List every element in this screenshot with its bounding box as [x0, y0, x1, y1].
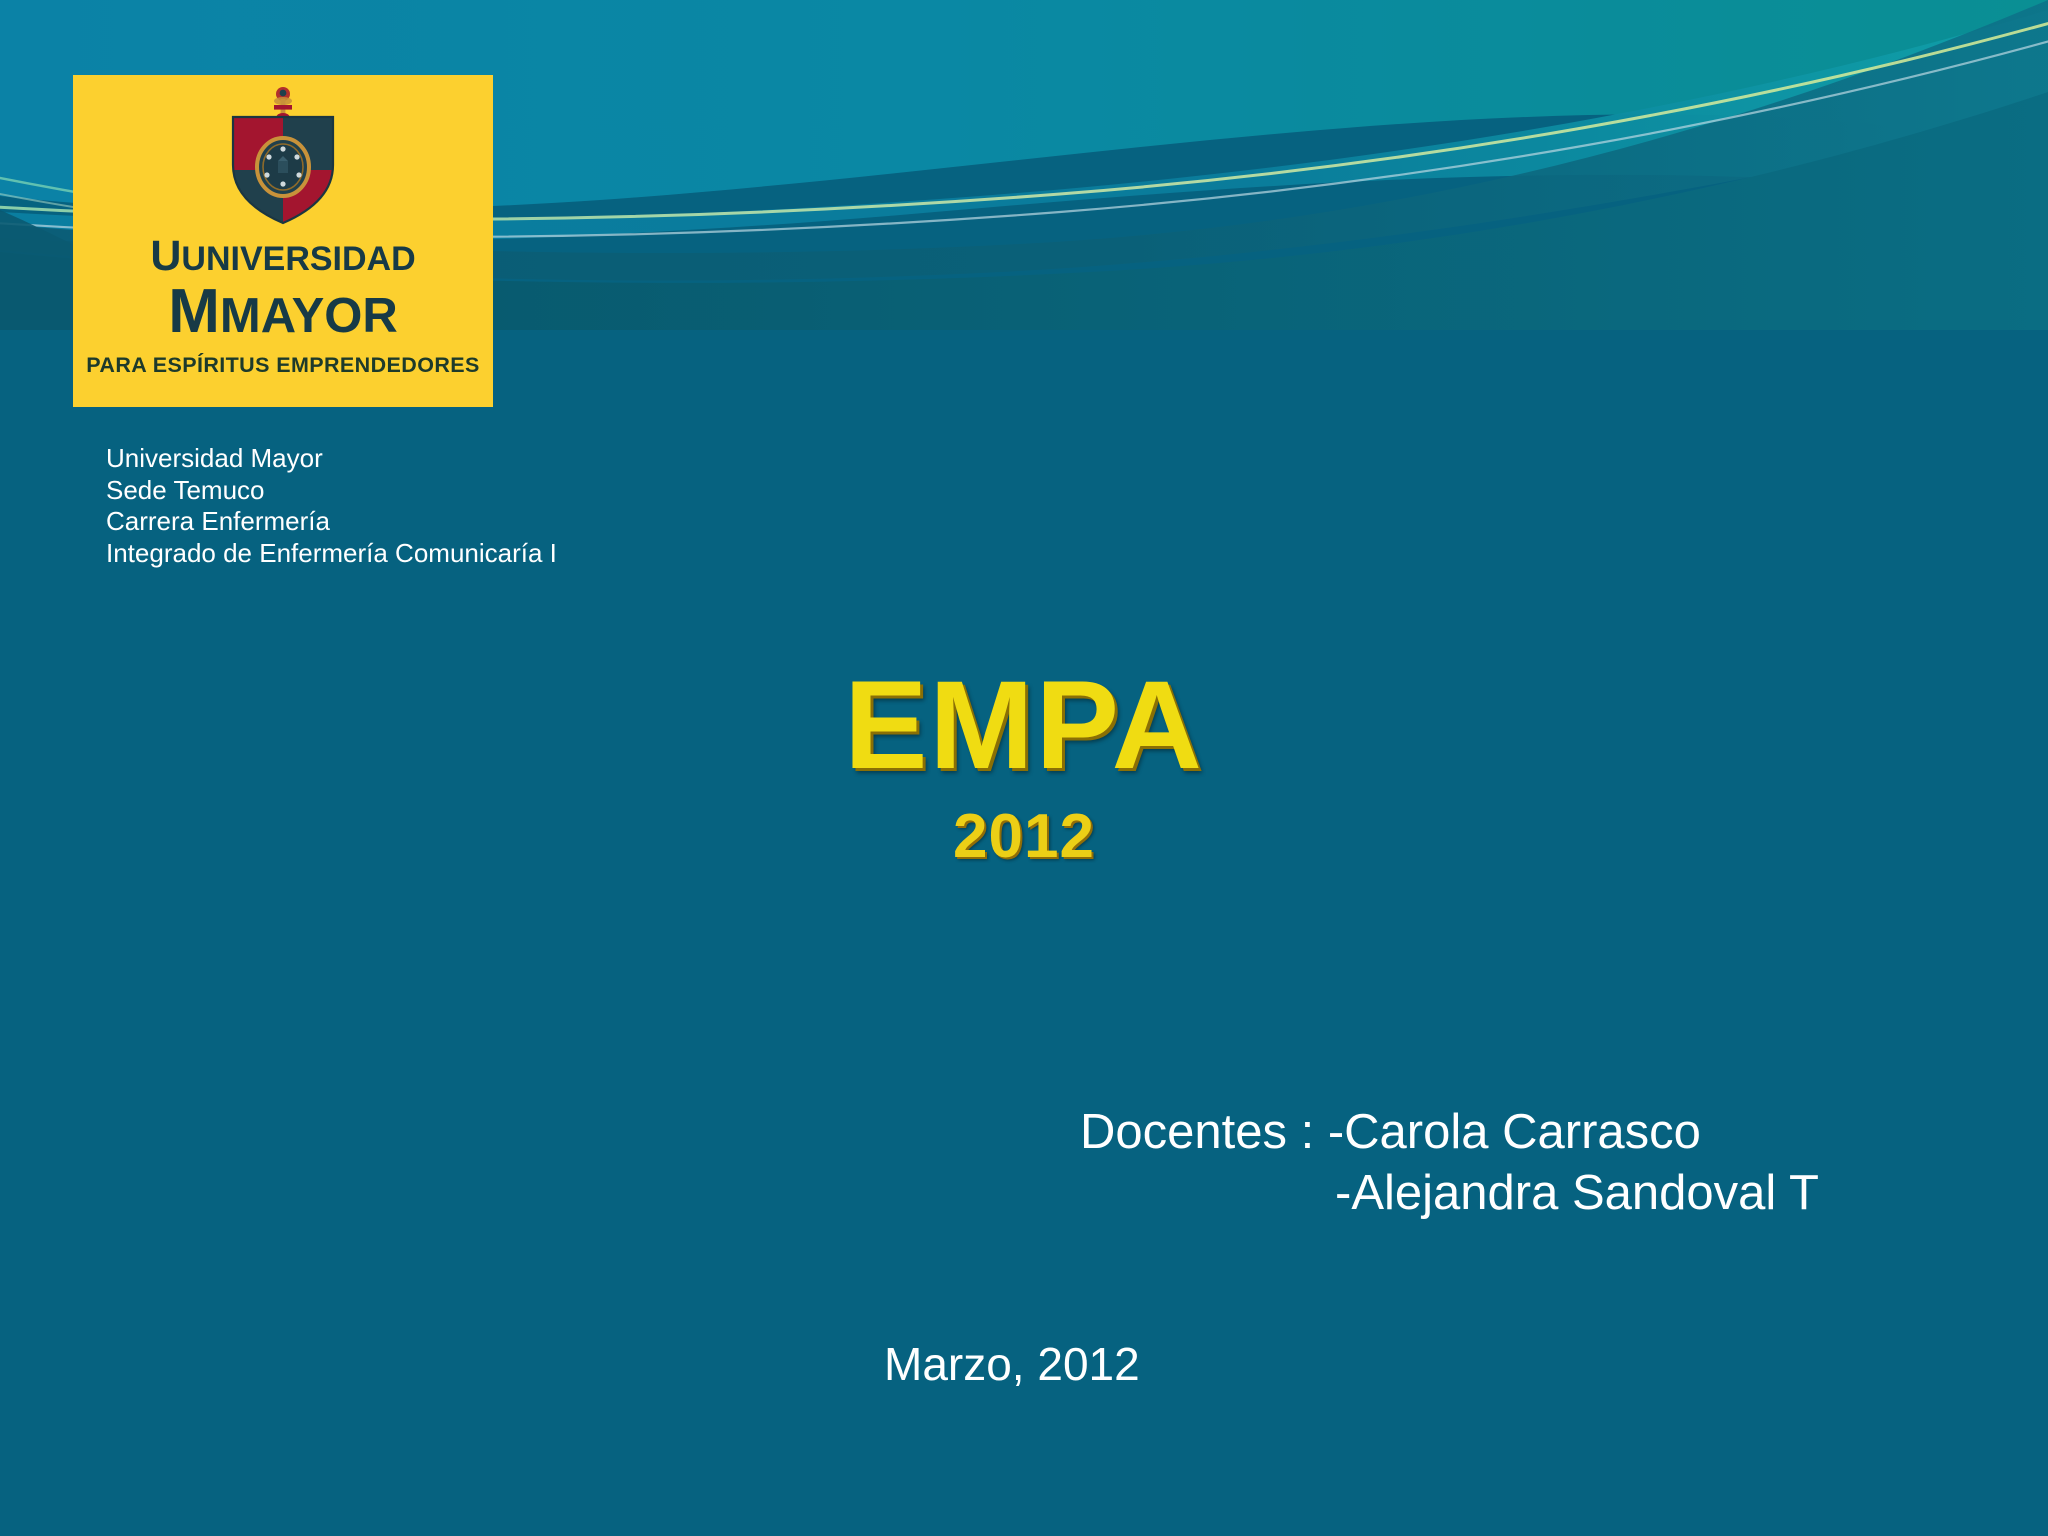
institution-block: Universidad Mayor Sede Temuco Carrera En… [106, 443, 557, 569]
presentation-slide: UUNIVERSIDAD MMAYOR PARA ESPÍRITUS EMPRE… [0, 0, 2048, 1536]
logo-line-1-text: UNIVERSIDAD [181, 240, 415, 278]
institution-line-course: Integrado de Enfermería Comunicaría I [106, 538, 557, 570]
presentation-date: Marzo, 2012 [884, 1337, 1140, 1391]
title-block: EMPA 2012 [0, 660, 2048, 872]
instructors-block: Docentes : -Carola Carrasco -Alejandra S… [1080, 1102, 1819, 1224]
institution-line-program: Carrera Enfermería [106, 506, 557, 538]
institution-line-campus: Sede Temuco [106, 475, 557, 507]
universidad-mayor-logo: UUNIVERSIDAD MMAYOR PARA ESPÍRITUS EMPRE… [73, 75, 493, 407]
logo-tagline: PARA ESPÍRITUS EMPRENDEDORES [86, 353, 479, 378]
instructor-line-1: Docentes : -Carola Carrasco [1080, 1105, 1701, 1159]
institution-line-university: Universidad Mayor [106, 443, 557, 475]
logo-line-1: UUNIVERSIDAD [150, 235, 415, 278]
logo-line-2: MMAYOR [168, 280, 398, 343]
page-title: EMPA [844, 660, 1204, 791]
university-crest-icon [219, 87, 347, 229]
instructor-line-2: -Alejandra Sandoval T [1080, 1163, 1819, 1224]
logo-line-2-text: MAYOR [220, 289, 398, 343]
title-year: 2012 [0, 801, 2048, 872]
